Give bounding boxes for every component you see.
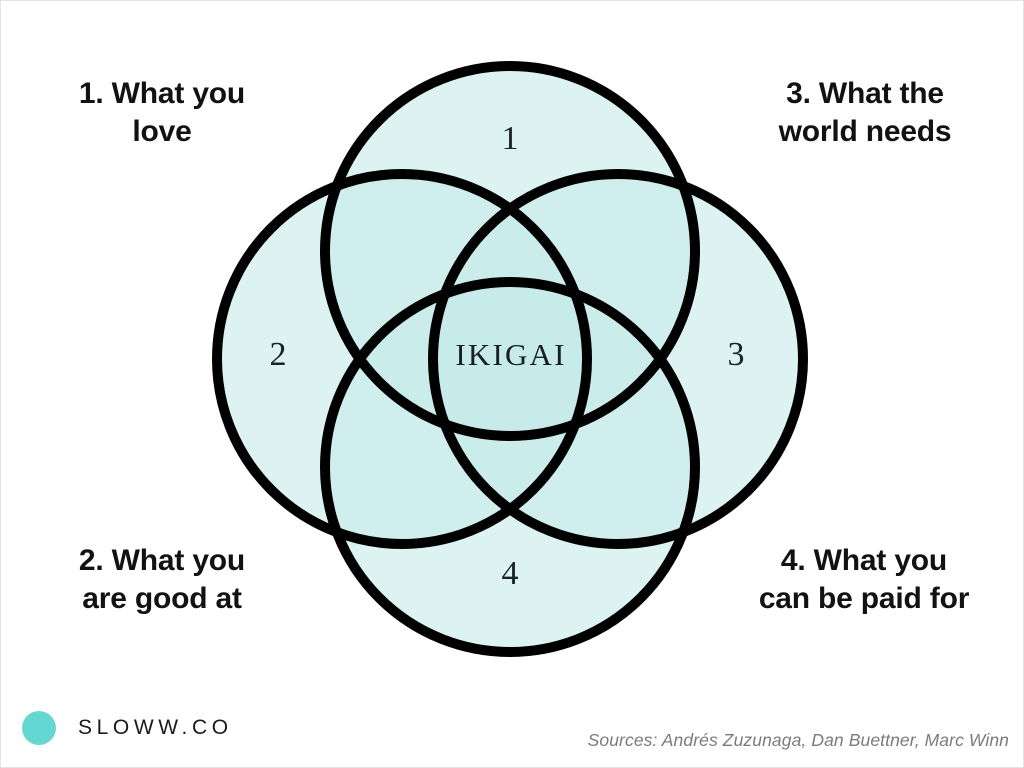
region-number-1: 1 bbox=[502, 120, 519, 157]
sloww-logo[interactable]: SLOWW.CO bbox=[22, 711, 233, 745]
logo-wordmark: SLOWW.CO bbox=[78, 716, 233, 740]
diagram-canvas: 1 2 3 4 IKIGAI 1. What you love 3. What … bbox=[0, 0, 1024, 768]
label-what-you-love: 1. What you love bbox=[31, 75, 293, 152]
region-number-4: 4 bbox=[502, 555, 519, 592]
label-what-the-world-needs: 3. What the world needs bbox=[729, 75, 1001, 152]
region-number-2: 2 bbox=[270, 336, 287, 373]
logo-circle-icon bbox=[22, 711, 56, 745]
ikigai-center-label: IKIGAI bbox=[455, 337, 566, 372]
region-number-3: 3 bbox=[728, 336, 745, 373]
label-what-you-can-be-paid-for: 4. What you can be paid for bbox=[719, 542, 1009, 619]
sources-credit: Sources: Andrés Zuzunaga, Dan Buettner, … bbox=[588, 730, 1009, 751]
label-what-you-are-good-at: 2. What you are good at bbox=[31, 542, 293, 619]
